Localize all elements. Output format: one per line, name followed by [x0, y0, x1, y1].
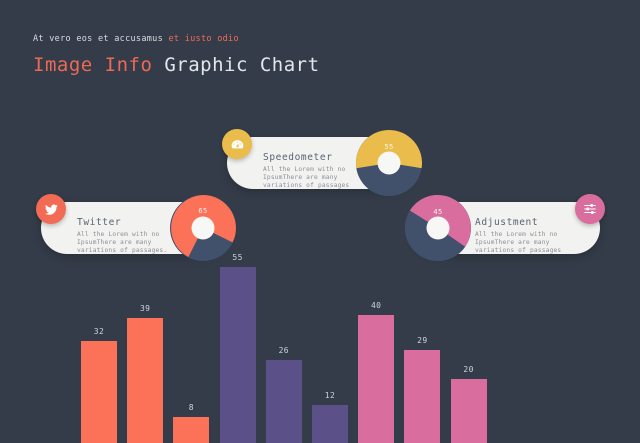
card-twitter[interactable]: Twitter All the Lorem with no IpsumThere…	[41, 202, 228, 254]
bar-4[interactable]	[220, 267, 256, 443]
speedometer-icon	[222, 129, 252, 159]
twitter-icon	[36, 194, 66, 224]
adjustment-card-description: All the Lorem with no IpsumThere are man…	[475, 231, 600, 256]
card-adjustment[interactable]: Adjustment All the Lorem with no IpsumTh…	[413, 202, 600, 254]
speedometer-donut[interactable]: 55	[356, 130, 422, 196]
speedometer-donut-value: 55	[356, 143, 422, 151]
twitter-donut[interactable]: 65	[170, 195, 236, 261]
adjustment-card-text: Adjustment All the Lorem with no IpsumTh…	[475, 216, 600, 256]
adjustment-card-title: Adjustment	[475, 216, 600, 229]
bar-label-5: 26	[266, 346, 302, 355]
bar-label-7: 40	[358, 301, 394, 310]
bar-label-2: 39	[127, 304, 163, 313]
bar-label-8: 29	[404, 336, 440, 345]
bar-label-9: 20	[451, 365, 487, 374]
bar-3[interactable]	[173, 417, 209, 443]
twitter-donut-value: 65	[170, 207, 236, 215]
bar-label-6: 12	[312, 391, 348, 400]
bar-2[interactable]	[127, 318, 163, 443]
adjustment-donut-value: 45	[405, 208, 471, 216]
bar-9[interactable]	[451, 379, 487, 443]
bar-label-1: 32	[81, 327, 117, 336]
adjustment-donut[interactable]: 45	[405, 195, 471, 261]
bar-5[interactable]	[266, 360, 302, 443]
card-speedometer[interactable]: Speedometer All the Lorem with no IpsumT…	[227, 137, 414, 189]
bar-7[interactable]	[358, 315, 394, 443]
bar-1[interactable]	[81, 341, 117, 443]
bar-label-3: 8	[173, 403, 209, 412]
bar-8[interactable]	[404, 350, 440, 443]
infographic-chart-slide: At vero eos et accusamus et iusto odio I…	[0, 0, 640, 443]
bar-6[interactable]	[312, 405, 348, 443]
